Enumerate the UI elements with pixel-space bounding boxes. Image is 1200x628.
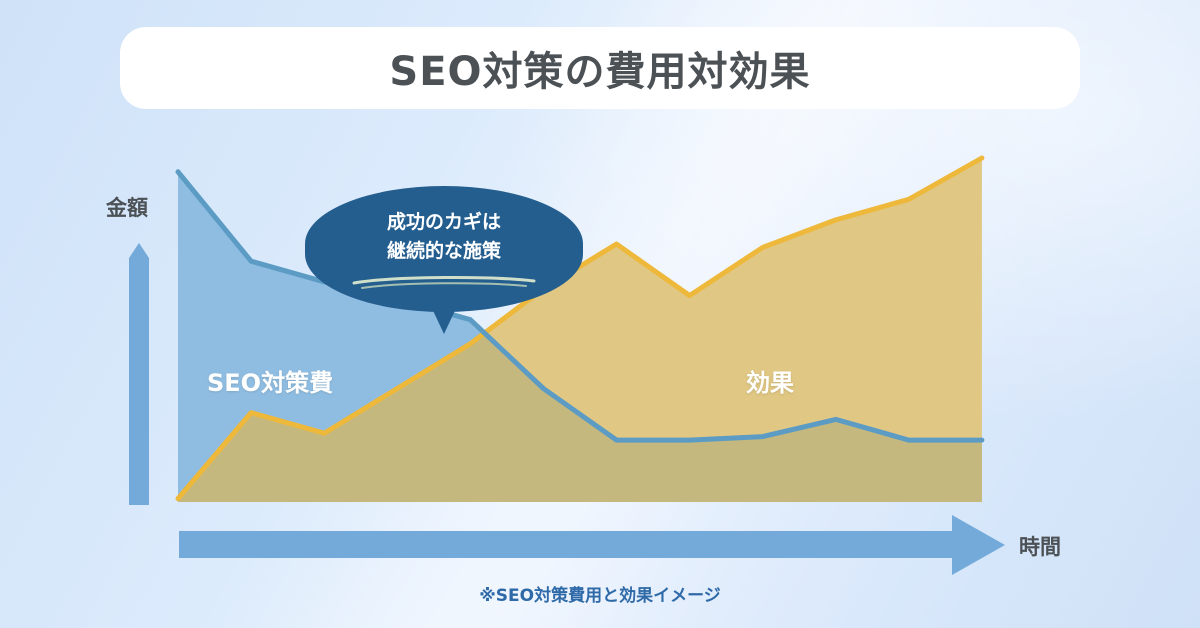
x-axis-arrow xyxy=(179,515,1005,575)
y-axis-arrow xyxy=(129,243,149,505)
x-axis-label: 時間 xyxy=(1019,531,1061,561)
title-card: SEO対策の費用対効果 xyxy=(120,27,1080,109)
y-axis-label: 金額 xyxy=(106,192,148,222)
chart-caption: ※SEO対策費用と効果イメージ xyxy=(0,581,1200,606)
callout-text: 成功のカギは 継続的な施策 xyxy=(305,208,583,267)
page-title: SEO対策の費用対効果 xyxy=(389,39,810,97)
series-label-effect: 効果 xyxy=(746,363,794,398)
infographic-canvas: SEO対策の費用対効果 金額 時間 SEO対策費 効果 成功のカギは 継続的な施… xyxy=(0,0,1200,628)
callout-bubble: 成功のカギは 継続的な施策 xyxy=(305,186,583,312)
series-label-seo-cost: SEO対策費 xyxy=(207,363,333,398)
callout-underline-icon xyxy=(352,274,536,290)
callout-tail xyxy=(428,300,460,334)
